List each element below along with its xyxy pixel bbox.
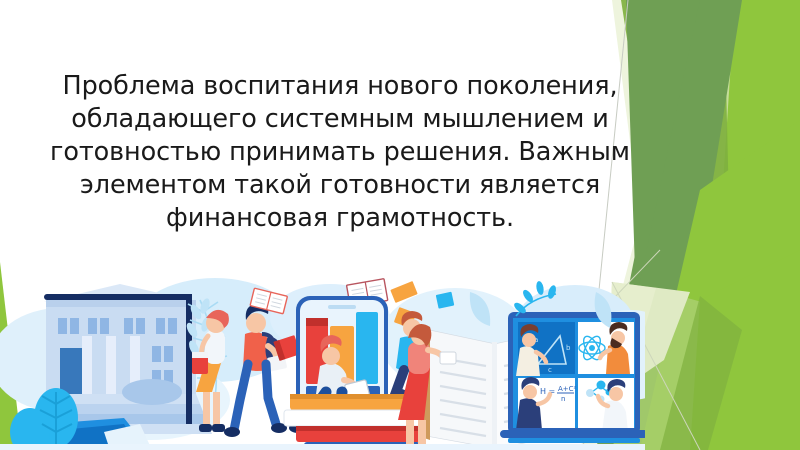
svg-text:b: b (566, 344, 571, 352)
woman-reading-red-dress (398, 324, 456, 448)
deco-hairline-2 (612, 250, 660, 300)
deco-left-sliver-shape (0, 262, 22, 450)
giant-open-book (424, 328, 564, 450)
deco-hairline-3 (612, 282, 700, 450)
svg-text:c: c (548, 366, 552, 374)
svg-text:a: a (534, 336, 538, 344)
splash-leaves (512, 280, 557, 316)
background-blobs (0, 278, 685, 440)
path-walkway-shadow (58, 424, 140, 450)
leafy-branch (188, 300, 227, 404)
presentation-slide: Проблема воспитания нового поколения, об… (0, 0, 800, 450)
svg-text:n: n (561, 395, 565, 403)
tile-formula: H = A+C² n (516, 377, 577, 430)
university-building (36, 284, 212, 434)
decorative-leaves-right (470, 292, 612, 328)
path-walkway (36, 418, 150, 450)
flying-books (250, 279, 454, 361)
student-walking-male (224, 304, 287, 437)
deco-shape-light-lower (612, 288, 730, 450)
tile-geometry: a b c (516, 324, 571, 376)
deco-shape-dark-bottom-notch (660, 296, 742, 450)
svg-text:A+C²: A+C² (558, 385, 577, 393)
slide-title-block: Проблема воспитания нового поколения, об… (30, 70, 650, 235)
path-highlight (104, 424, 152, 450)
tile-atom (579, 322, 630, 374)
deco-shape-bright-band (660, 0, 800, 450)
deco-shape-bright-lower (640, 120, 800, 450)
ground-line (0, 444, 645, 450)
laptop-online-lessons: a b c (500, 312, 648, 443)
illustration-scene: a b c (0, 278, 685, 450)
bushes (10, 388, 78, 450)
deco-shape-mid-bottom (690, 250, 800, 450)
deco-shape-pale-lowerleft (606, 282, 690, 400)
student-walking-female (192, 310, 229, 432)
tile-molecule (586, 379, 628, 432)
leaf-cluster (185, 297, 216, 357)
svg-text:H =: H = (540, 387, 555, 396)
student-sitting-on-books (289, 335, 370, 433)
smartphone-with-books (296, 296, 388, 436)
page-title: Проблема воспитания нового поколения, об… (30, 70, 650, 235)
deco-shape-palegreen-sliver (608, 282, 656, 370)
book-stack (284, 394, 426, 450)
student-reading-on-phone (396, 311, 465, 405)
